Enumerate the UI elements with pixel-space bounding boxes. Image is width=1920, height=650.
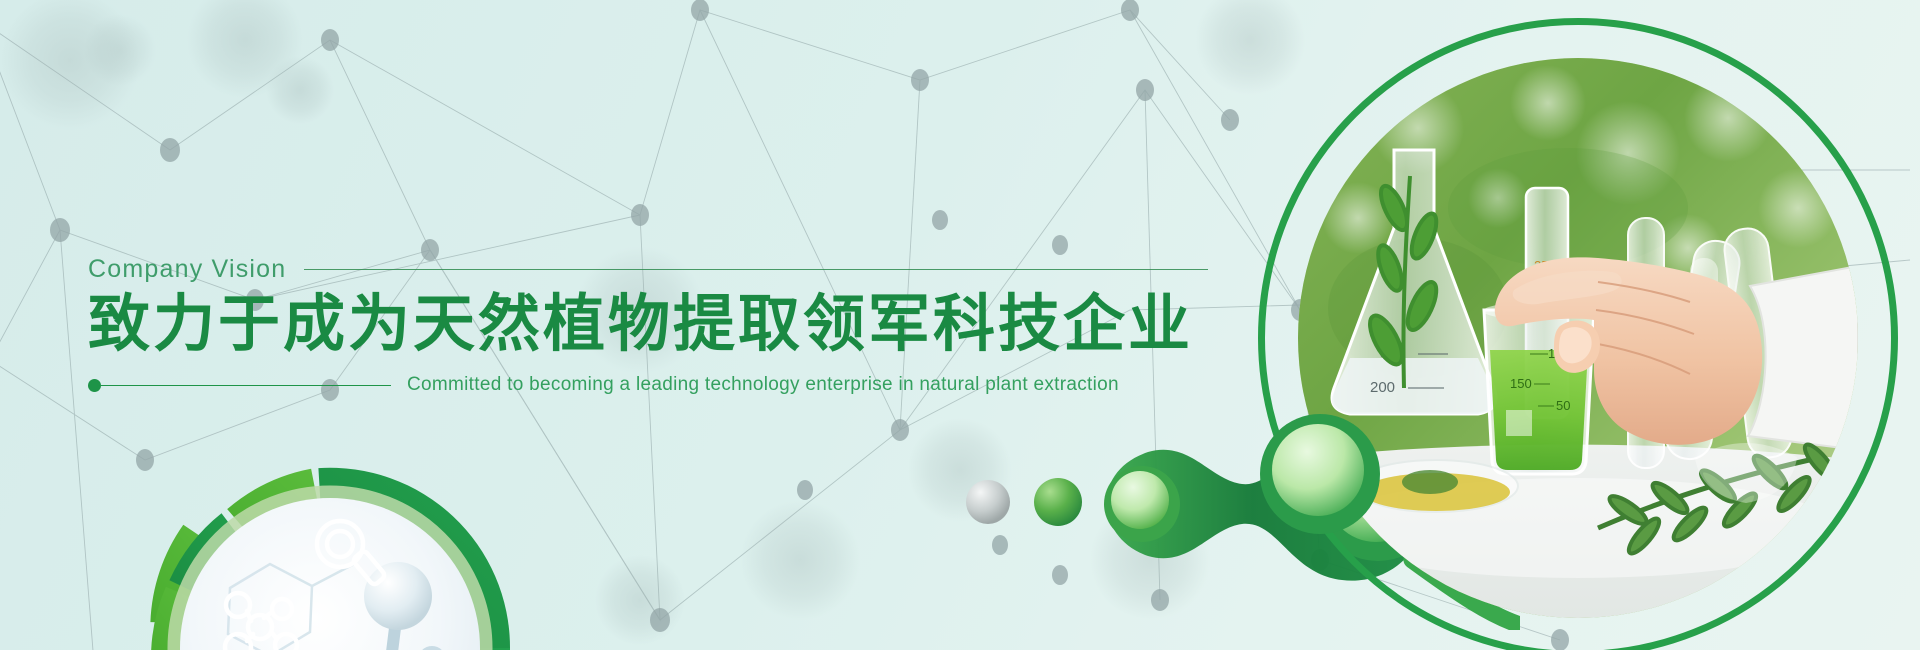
eyebrow-label: Company Vision [88,255,286,284]
molecule-orb-medium-inner [1111,471,1169,529]
molecule-orb-small-green [1034,478,1082,526]
svg-text:150: 150 [1510,376,1532,391]
svg-text:50: 50 [1556,398,1570,413]
vision-text-block: Company Vision 致力于成为天然植物提取领军科技企业 Committ… [88,255,1208,396]
subtitle-divider [101,385,391,386]
capability-gauge [80,398,580,650]
molecule-node-badge [1256,410,1384,538]
molecule-orb-grey [966,480,1010,524]
page-title: 致力于成为天然植物提取领军科技企业 [88,289,1208,362]
eyebrow-row: Company Vision [88,255,1208,283]
svg-text:200: 200 [1370,379,1395,396]
eyebrow-divider [304,269,1208,270]
photo-alt-text: Hand holding a beaker of green plant ext… [0,0,1,1]
company-vision-banner: Company Vision 致力于成为天然植物提取领军科技企业 Committ… [0,0,1920,650]
lab-photo-card: 25 300 200 [1258,18,1898,650]
subtitle-bullet-dot [88,379,101,392]
